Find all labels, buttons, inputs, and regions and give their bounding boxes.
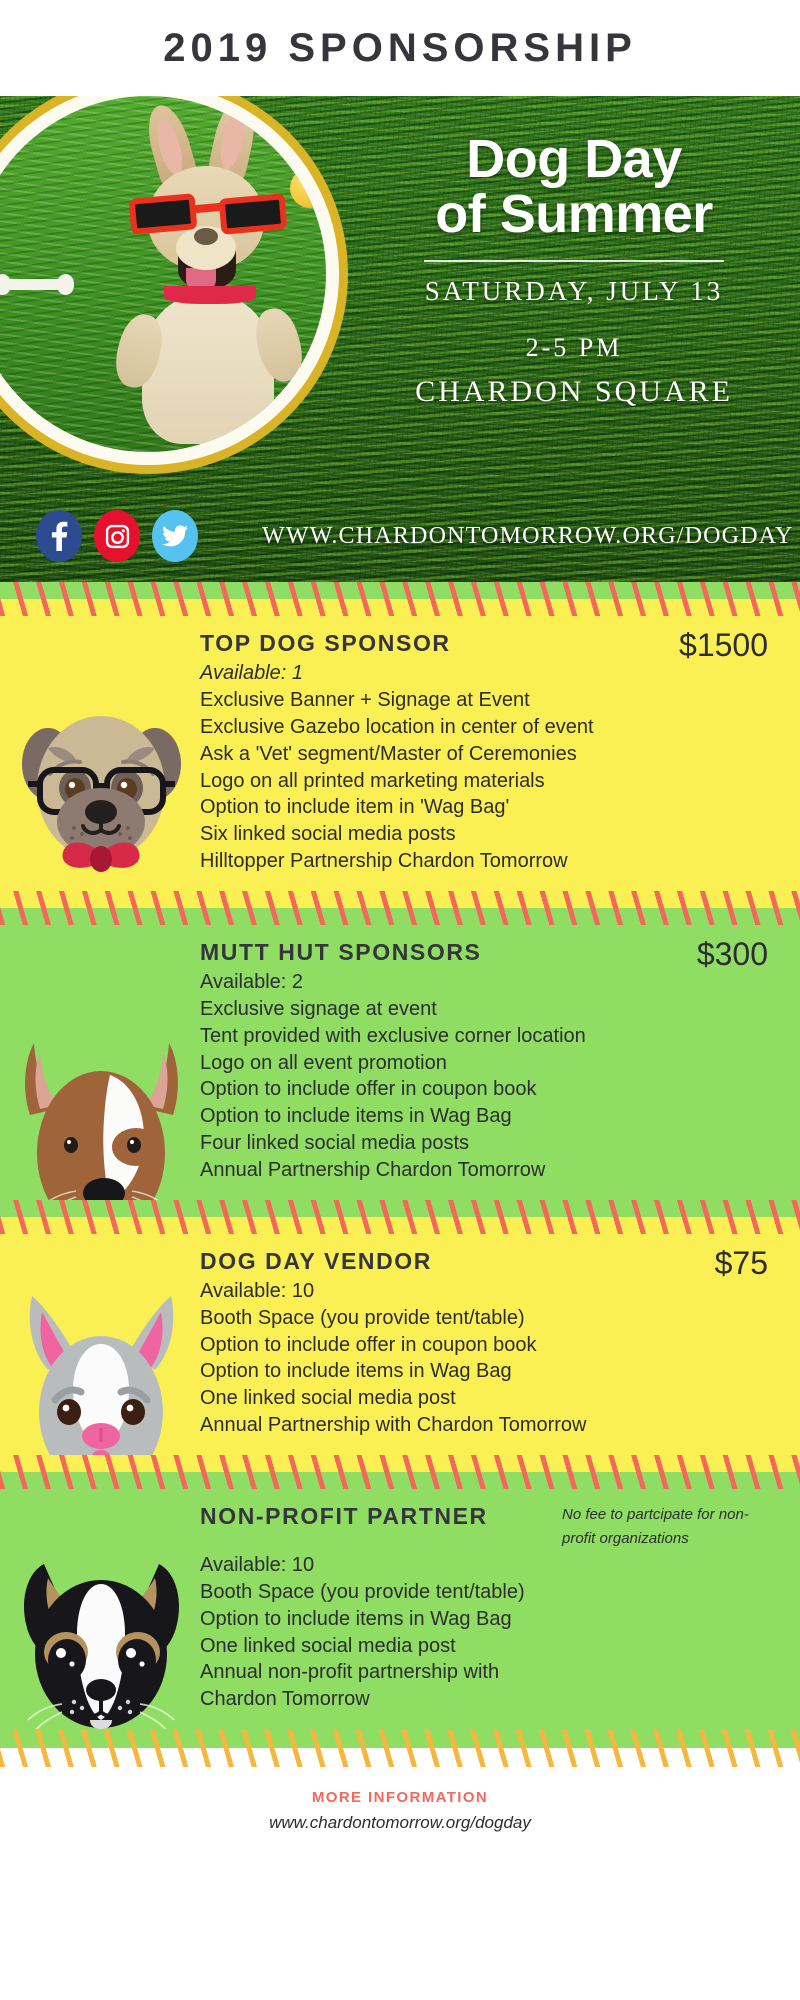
tier-price: $300 bbox=[697, 939, 782, 969]
facebook-icon[interactable] bbox=[36, 510, 82, 562]
hero-divider-rule bbox=[424, 260, 724, 262]
twitter-icon[interactable] bbox=[152, 510, 198, 562]
list-item: Chardon Tomorrow bbox=[200, 1686, 782, 1713]
tier-section-top-dog: TOP DOG SPONSOR $1500 Available: 1 Exclu… bbox=[0, 616, 800, 891]
tier-availability: Available: 1 bbox=[200, 660, 782, 687]
tier-benefits-list: Exclusive signage at event Tent provided… bbox=[200, 996, 782, 1184]
medallion-white-ring bbox=[0, 96, 339, 465]
event-date: SATURDAY, JULY 13 bbox=[372, 276, 776, 307]
tier-benefits-list: Exclusive Banner + Signage at Event Excl… bbox=[200, 687, 782, 875]
page-footer: MORE INFORMATION www.chardontomorrow.org… bbox=[0, 1767, 800, 1833]
tier-section-non-profit-partner: NON-PROFIT PARTNER No fee to partcipate … bbox=[0, 1489, 800, 1729]
hero-title-line-2: of Summer bbox=[372, 187, 776, 242]
sunglasses-icon bbox=[130, 192, 286, 236]
tier-note: No fee to partcipate for non-profit orga… bbox=[562, 1503, 782, 1553]
tier-section-mutt-hut: MUTT HUT SPONSORS $300 Available: 2 Excl… bbox=[0, 925, 800, 1200]
hero-title-line-1: Dog Day bbox=[372, 132, 776, 187]
tier-benefits-list: Booth Space (you provide tent/table) Opt… bbox=[200, 1305, 782, 1439]
list-item: One linked social media post bbox=[200, 1385, 782, 1412]
tier-name: DOG DAY VENDOR bbox=[200, 1248, 432, 1275]
list-item: Exclusive Banner + Signage at Event bbox=[200, 687, 782, 714]
list-item: Hilltopper Partnership Chardon Tomorrow bbox=[200, 848, 782, 875]
stripe-divider-2 bbox=[0, 891, 800, 925]
tier-name: MUTT HUT SPONSORS bbox=[200, 939, 481, 966]
hero-website-url[interactable]: WWW.CHARDONTOMORROW.ORG/DOGDAY bbox=[262, 523, 794, 550]
list-item: Tent provided with exclusive corner loca… bbox=[200, 1023, 782, 1050]
tier-section-dog-day-vendor: DOG DAY VENDOR $75 Available: 10 Booth S… bbox=[0, 1234, 800, 1455]
list-item: Annual Partnership Chardon Tomorrow bbox=[200, 1157, 782, 1184]
stripe-divider-3 bbox=[0, 1200, 800, 1234]
instagram-icon[interactable] bbox=[94, 510, 140, 562]
list-item: Option to include items in Wag Bag bbox=[200, 1358, 782, 1385]
social-links bbox=[36, 510, 198, 562]
list-item: Annual non-profit partnership with bbox=[200, 1659, 782, 1686]
dog-bone-icon bbox=[0, 274, 76, 294]
stripe-divider-5 bbox=[0, 1729, 800, 1767]
stripe-divider-4 bbox=[0, 1455, 800, 1489]
page-title: 2019 SPONSORSHIP bbox=[163, 26, 637, 71]
list-item: Logo on all printed marketing materials bbox=[200, 768, 782, 795]
list-item: Booth Space (you provide tent/table) bbox=[200, 1305, 782, 1332]
tier-availability: Available: 10 bbox=[200, 1278, 782, 1305]
list-item: Option to include offer in coupon book bbox=[200, 1332, 782, 1359]
page-header: 2019 SPONSORSHIP bbox=[0, 0, 800, 96]
list-item: Option to include items in Wag Bag bbox=[200, 1606, 782, 1633]
tier-name: NON-PROFIT PARTNER bbox=[200, 1503, 488, 1530]
tier-availability: Available: 2 bbox=[200, 969, 782, 996]
list-item: Exclusive Gazebo location in center of e… bbox=[200, 714, 782, 741]
list-item: Six linked social media posts bbox=[200, 821, 782, 848]
list-item: Option to include item in 'Wag Bag' bbox=[200, 794, 782, 821]
tier-price: $75 bbox=[715, 1248, 782, 1278]
sunglasses-dog-photo bbox=[106, 118, 306, 428]
list-item: Option to include items in Wag Bag bbox=[200, 1103, 782, 1130]
hero-banner: Dog Day of Summer SATURDAY, JULY 13 2-5 … bbox=[0, 96, 800, 582]
list-item: Logo on all event promotion bbox=[200, 1050, 782, 1077]
list-item: Ask a 'Vet' segment/Master of Ceremonies bbox=[200, 741, 782, 768]
list-item: Annual Partnership with Chardon Tomorrow bbox=[200, 1412, 782, 1439]
tier-price: $1500 bbox=[679, 630, 782, 660]
event-location: CHARDON SQUARE bbox=[372, 375, 776, 409]
list-item: One linked social media post bbox=[200, 1633, 782, 1660]
list-item: Option to include offer in coupon book bbox=[200, 1076, 782, 1103]
list-item: Booth Space (you provide tent/table) bbox=[200, 1579, 782, 1606]
medallion-photo bbox=[0, 96, 326, 452]
hero-footer-row: WWW.CHARDONTOMORROW.ORG/DOGDAY bbox=[0, 510, 800, 562]
dog-photo-medallion bbox=[0, 96, 348, 474]
footer-website-url[interactable]: www.chardontomorrow.org/dogday bbox=[0, 1813, 800, 1833]
event-time: 2-5 PM bbox=[372, 333, 776, 363]
hero-text-block: Dog Day of Summer SATURDAY, JULY 13 2-5 … bbox=[372, 132, 776, 409]
footer-heading: MORE INFORMATION bbox=[0, 1789, 800, 1806]
tier-benefits-list: Booth Space (you provide tent/table) Opt… bbox=[200, 1579, 782, 1713]
stripe-divider-1 bbox=[0, 582, 800, 616]
tier-availability: Available: 10 bbox=[200, 1552, 782, 1579]
tier-name: TOP DOG SPONSOR bbox=[200, 630, 451, 657]
list-item: Four linked social media posts bbox=[200, 1130, 782, 1157]
list-item: Exclusive signage at event bbox=[200, 996, 782, 1023]
